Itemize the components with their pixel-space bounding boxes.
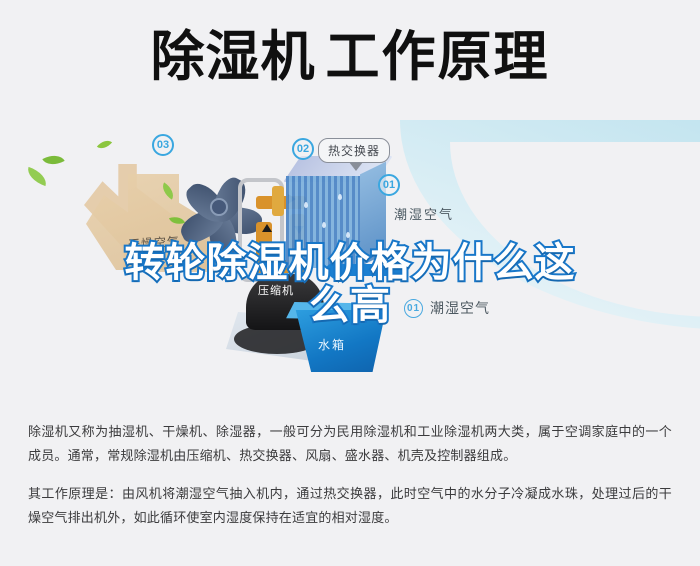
- body-paragraph-2: 其工作原理是：由风机将潮湿空气抽入机内，通过热交换器，此时空气中的水分子冷凝成水…: [28, 482, 672, 530]
- fan-hub: [210, 198, 228, 216]
- step-item-01: 01 潮湿空气: [404, 298, 490, 318]
- title-segment-secondary: 工作原理: [326, 26, 550, 88]
- water-droplet-icon: [338, 194, 342, 200]
- dry-air-label: 干燥空气: [127, 232, 180, 253]
- water-droplet-icon: [314, 242, 318, 248]
- compressor-label: 压缩机: [258, 282, 294, 298]
- article-body: 除湿机又称为抽湿机、干燥机、除湿器，一般可分为民用除湿机和工业除湿机两大类，属于…: [0, 404, 700, 566]
- body-paragraph-1: 除湿机又称为抽湿机、干燥机、除湿器，一般可分为民用除湿机和工业除湿机两大类，属于…: [28, 420, 672, 468]
- leaf-icon: [42, 150, 64, 170]
- leaf-icon: [25, 167, 50, 186]
- diagram-badge-02: 02: [292, 138, 314, 160]
- leaf-icon: [97, 137, 112, 153]
- diagram-badge-03: 03: [152, 134, 174, 156]
- flow-arrow-up-icon: [262, 224, 272, 232]
- water-tank-label: 水箱: [318, 336, 346, 353]
- step-badge: 01: [404, 299, 423, 318]
- water-droplet-icon: [346, 232, 350, 238]
- principle-diagram: 干燥空气 压缩机: [0, 112, 700, 400]
- header-banner: 除湿机工作原理: [0, 0, 700, 118]
- water-droplet-icon: [304, 202, 308, 208]
- heat-exchanger-callout: 热交换器: [318, 138, 390, 163]
- step-text: 潮湿空气: [430, 298, 490, 318]
- air-inflow-arrow-icon: [338, 264, 402, 276]
- water-droplet-icon: [322, 222, 326, 228]
- page-title: 除湿机工作原理: [0, 26, 700, 88]
- moist-air-label: 潮湿空气: [394, 204, 454, 223]
- diagram-badge-01: 01: [378, 174, 400, 196]
- title-segment-primary: 除湿机: [151, 26, 316, 88]
- copper-tube: [272, 186, 284, 216]
